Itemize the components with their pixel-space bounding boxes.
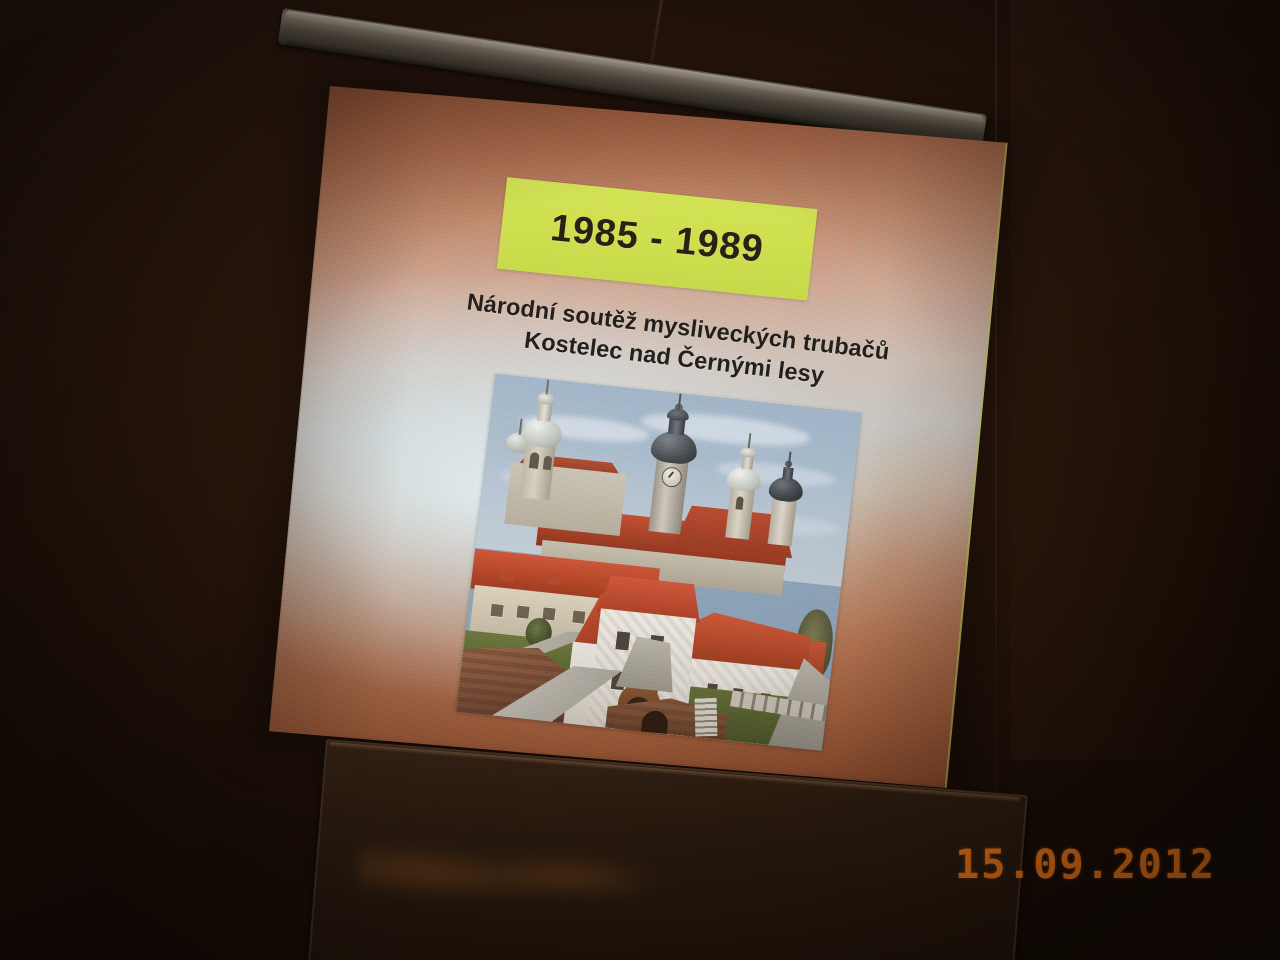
room-wall-right [1010, 0, 1280, 760]
slide-edge [269, 86, 1008, 788]
screenshot-root: 1985 - 1989 Národní soutěž mysliveckých … [0, 0, 1280, 960]
camera-datestamp: 15.09.2012 [955, 842, 1216, 888]
projected-slide: 1985 - 1989 Národní soutěž mysliveckých … [269, 86, 1008, 788]
